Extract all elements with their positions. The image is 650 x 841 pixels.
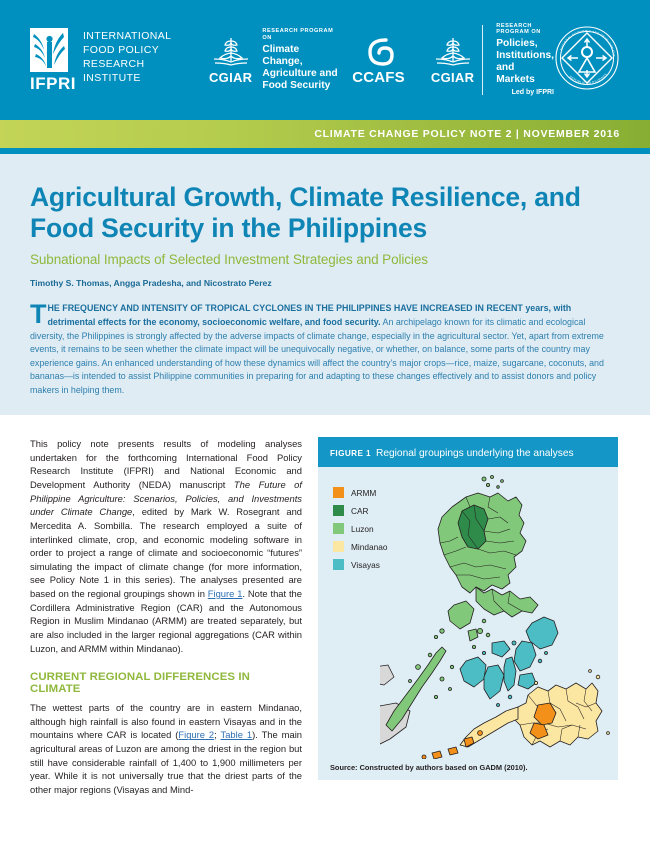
pim-name-line-3: and Markets xyxy=(496,62,554,86)
figure-1: FIGURE 1Regional groupings underlying th… xyxy=(318,437,618,780)
section-heading-current-regional-differences: CURRENT REGIONAL DIFFERENCES IN CLIMATE xyxy=(30,671,302,695)
right-column: FIGURE 1Regional groupings underlying th… xyxy=(318,437,618,796)
legend-swatch-car xyxy=(333,505,344,516)
page-header: IFPRI INTERNATIONAL FOOD POLICY RESEARCH… xyxy=(0,0,650,120)
ifpri-name-line-3: RESEARCH xyxy=(83,58,171,72)
authors-line: Timothy S. Thomas, Angga Pradesha, and N… xyxy=(30,278,620,288)
page-subtitle: Subnational Impacts of Selected Investme… xyxy=(30,252,620,267)
legend-swatch-visayas xyxy=(333,559,344,570)
logo-row: IFPRI INTERNATIONAL FOOD POLICY RESEARCH… xyxy=(30,23,620,98)
ccafs-program-text: RESEARCH PROGRAM ON Climate Change, Agri… xyxy=(262,28,338,91)
figure-1-crossref[interactable]: Figure 1 xyxy=(208,588,243,599)
abstract-rest: An archipelago known for its climatic an… xyxy=(30,317,604,395)
pim-name-line-1: Policies, xyxy=(496,38,554,50)
figure-1-number: FIGURE 1 xyxy=(330,449,371,458)
pim-kicker-line-1: RESEARCH xyxy=(496,23,554,30)
figure-1-body: ARMM CAR Luzon Mindanao xyxy=(318,467,618,759)
pim-kicker-line-2: PROGRAM ON xyxy=(496,29,554,36)
figure-1-header: FIGURE 1Regional groupings underlying th… xyxy=(318,437,618,467)
pim-name-line-2: Institutions, xyxy=(496,50,554,62)
page-title: Agricultural Growth, Climate Resilience,… xyxy=(30,182,620,243)
ifpri-name-line-2: FOOD POLICY xyxy=(83,44,171,58)
ccafs-name-line-2: Agriculture and xyxy=(262,68,338,80)
philippines-map xyxy=(380,471,616,759)
table-1-crossref[interactable]: Table 1 xyxy=(221,729,253,740)
abstract-dropcap: T xyxy=(30,303,47,325)
figure-1-title: Regional groupings underlying the analys… xyxy=(376,448,574,459)
ccafs-cgiar-word: CGIAR xyxy=(209,70,252,85)
issue-band: CLIMATE CHANGE POLICY NOTE 2 | NOVEMBER … xyxy=(0,120,650,148)
legend-swatch-armm xyxy=(333,487,344,498)
issue-band-text: CLIMATE CHANGE POLICY NOTE 2 | NOVEMBER … xyxy=(314,128,620,140)
ccafs-name-line-3: Food Security xyxy=(262,80,338,92)
neda-seal-icon: NATIONAL ECONOMIC AND DEVELOPMENT AUTHOR… xyxy=(554,25,620,96)
ifpri-name: INTERNATIONAL FOOD POLICY RESEARCH INSTI… xyxy=(83,28,171,85)
ccafs-swirl-mark: CCAFS xyxy=(352,35,405,86)
legend-label-luzon: Luzon xyxy=(351,524,374,534)
pim-led-by: Led by IFPRI xyxy=(496,89,554,97)
legend-swatch-mindanao xyxy=(333,541,344,552)
figure-2-crossref[interactable]: Figure 2 xyxy=(178,729,214,740)
body-columns: This policy note presents results of mod… xyxy=(0,415,650,796)
ccafs-acronym: CCAFS xyxy=(352,69,405,86)
figure-1-source: Source: Constructed by authors based on … xyxy=(318,759,618,780)
legend-label-car: CAR xyxy=(351,506,369,516)
cgiar-wheat-logo-icon-2: CGIAR xyxy=(431,35,474,85)
paragraph-climate: The wettest parts of the country are in … xyxy=(30,701,302,796)
ifpri-acronym: IFPRI xyxy=(30,75,76,92)
legend-label-visayas: Visayas xyxy=(351,560,380,570)
paragraph-intro-part-2: , edited by Mark W. Rosegrant and Merced… xyxy=(30,506,302,599)
title-block: Agricultural Growth, Climate Resilience,… xyxy=(0,154,650,415)
left-column: This policy note presents results of mod… xyxy=(30,437,302,796)
ccafs-kicker: RESEARCH PROGRAM ON xyxy=(262,28,338,41)
paragraph-intro: This policy note presents results of mod… xyxy=(30,437,302,655)
legend-label-armm: ARMM xyxy=(351,488,376,498)
ifpri-mark: IFPRI xyxy=(30,28,76,92)
ifpri-sprout-logo-icon xyxy=(30,28,68,72)
ifpri-logo: IFPRI INTERNATIONAL FOOD POLICY RESEARCH… xyxy=(30,28,177,92)
ifpri-name-line-1: INTERNATIONAL xyxy=(83,30,171,44)
page-title-line-1: Agricultural Growth, Climate Resilience,… xyxy=(30,182,581,212)
ccafs-name-line-1: Climate Change, xyxy=(262,44,338,68)
pim-program-text: RESEARCH PROGRAM ON Policies, Institutio… xyxy=(496,23,554,98)
page-title-line-2: Food Security in the Philippines xyxy=(30,213,427,243)
pim-cgiar-word: CGIAR xyxy=(431,70,474,85)
cgiar-wheat-logo-icon: CGIAR xyxy=(209,35,252,85)
legend-swatch-luzon xyxy=(333,523,344,534)
ccafs-logo: CGIAR RESEARCH PROGRAM ON Climate Change… xyxy=(209,28,405,91)
pim-logo: CGIAR RESEARCH PROGRAM ON Policies, Inst… xyxy=(431,23,554,98)
abstract-paragraph: THE FREQUENCY AND INTENSITY OF TROPICAL … xyxy=(30,302,620,397)
ifpri-name-line-4: INSTITUTE xyxy=(83,72,171,86)
pim-divider xyxy=(482,25,483,96)
policy-note-page: IFPRI INTERNATIONAL FOOD POLICY RESEARCH… xyxy=(0,0,650,841)
